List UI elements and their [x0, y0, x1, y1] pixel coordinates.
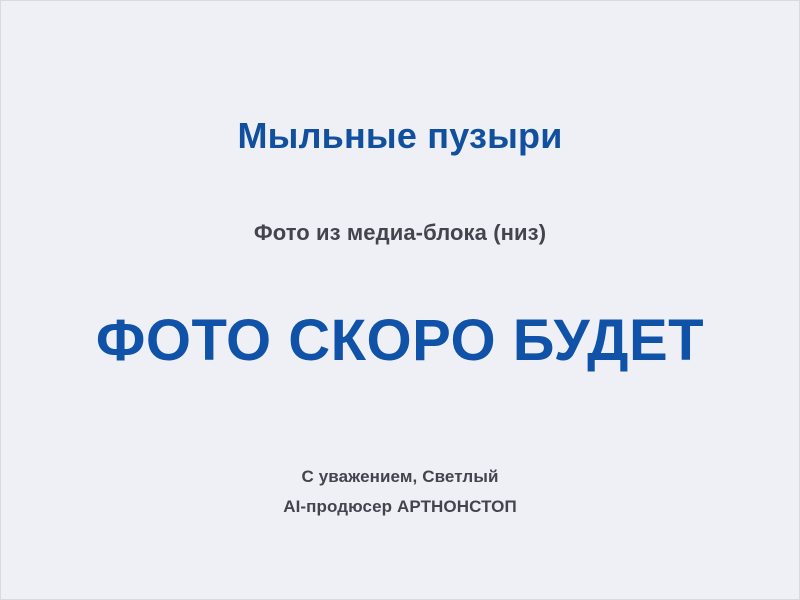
placeholder-headline: ФОТО СКОРО БУДЕТ — [1, 306, 799, 376]
page-subtitle: Фото из медиа-блока (низ) — [1, 218, 799, 248]
signature-block: С уважением, Светлый AI-продюсер АРТНОНС… — [1, 462, 799, 522]
page-title: Мыльные пузыри — [1, 114, 799, 158]
photo-placeholder-card: Мыльные пузыри Фото из медиа-блока (низ)… — [0, 0, 800, 600]
signature-line-role: AI-продюсер АРТНОНСТОП — [1, 492, 799, 522]
signature-line-greeting: С уважением, Светлый — [1, 462, 799, 492]
